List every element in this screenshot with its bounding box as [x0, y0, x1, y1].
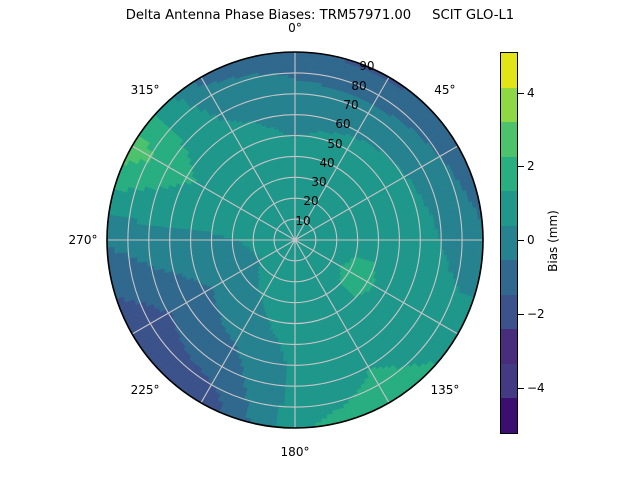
angular-tick-135: 135°	[430, 383, 459, 397]
colorbar-band	[501, 226, 517, 261]
colorbar-tick-mark	[518, 166, 524, 167]
page-title: Delta Antenna Phase Biases: TRM57971.00 …	[0, 8, 640, 23]
radial-tick-40: 40	[319, 156, 334, 170]
colorbar-axis-label: Bias (mm)	[546, 210, 560, 272]
angular-tick-225: 225°	[131, 383, 160, 397]
colorbar-tick-label: 0	[527, 233, 535, 247]
colorbar-band	[501, 53, 517, 88]
radial-tick-20: 20	[303, 194, 318, 208]
polar-axes[interactable]	[105, 45, 485, 435]
colorbar[interactable]	[500, 52, 518, 434]
colorbar-tick-mark	[518, 93, 524, 94]
angular-tick-180: 180°	[281, 445, 310, 459]
radial-tick-30: 30	[311, 175, 326, 189]
radial-tick-10: 10	[295, 214, 310, 228]
figure-canvas: Delta Antenna Phase Biases: TRM57971.00 …	[0, 0, 640, 480]
colorbar-band	[501, 364, 517, 399]
angular-tick-315: 315°	[131, 83, 160, 97]
polar-contour-plot[interactable]	[105, 45, 485, 435]
colorbar-band	[501, 88, 517, 123]
colorbar-tick-mark	[518, 314, 524, 315]
colorbar-band	[501, 191, 517, 226]
colorbar-band	[501, 260, 517, 295]
angular-tick-45: 45°	[434, 83, 455, 97]
colorbar-tick-label: 4	[527, 86, 535, 100]
colorbar-tick-label: −2	[527, 307, 545, 321]
colorbar-tick-label: 2	[527, 159, 535, 173]
radial-tick-80: 80	[351, 79, 366, 93]
colorbar-band	[501, 122, 517, 157]
radial-tick-70: 70	[343, 98, 358, 112]
colorbar-band	[501, 295, 517, 330]
angular-tick-0: 0°	[288, 21, 302, 35]
colorbar-band	[501, 157, 517, 192]
colorbar-tick-mark	[518, 240, 524, 241]
angular-tick-270: 270°	[69, 233, 98, 247]
colorbar-band	[501, 329, 517, 364]
radial-tick-60: 60	[335, 117, 350, 131]
colorbar-band	[501, 398, 517, 433]
radial-tick-90: 90	[359, 59, 374, 73]
radial-tick-50: 50	[327, 137, 342, 151]
colorbar-tick-mark	[518, 388, 524, 389]
colorbar-tick-label: −4	[527, 381, 545, 395]
